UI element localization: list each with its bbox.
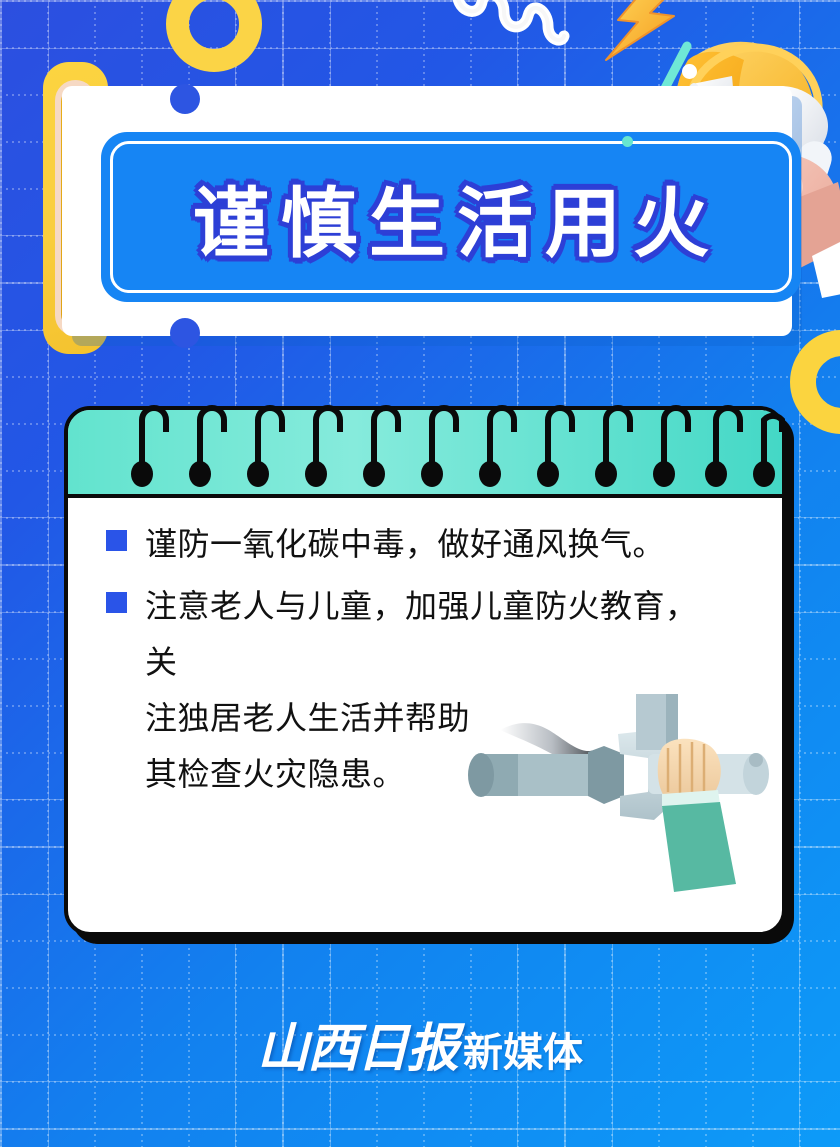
- dot-decoration-top: [170, 84, 200, 114]
- ring-right-icon: [790, 330, 840, 434]
- list-item-line: 注意老人与儿童，加强儿童防火教育，关: [145, 588, 698, 680]
- list-item-line: 注独居老人生活并帮助: [145, 700, 470, 736]
- list-item-label: 谨防一氧化碳中毒，做好通风换气。: [145, 516, 665, 572]
- logo-sub-text: 新媒体: [463, 1033, 583, 1076]
- logo-brand-text: 山西日报: [257, 1024, 457, 1076]
- ring-top-left-icon: [166, 0, 262, 72]
- bullet-square-icon: [106, 530, 127, 551]
- page-title: 谨慎生活用火: [101, 132, 801, 302]
- spiral-squiggle-icon: [452, 0, 592, 66]
- pipe-wrench-in-hand-icon: [448, 692, 784, 892]
- list-item-line: 其检查火灾隐患。: [145, 756, 405, 792]
- list-item: 谨防一氧化碳中毒，做好通风换气。: [98, 516, 752, 572]
- footer-logo: 山西日报 新媒体: [0, 1024, 840, 1076]
- bullet-square-icon: [106, 592, 127, 613]
- poster-root: 谨慎生活用火: [0, 0, 840, 1147]
- dot-decoration-bottom: [170, 318, 200, 348]
- dot-decoration-white: [682, 64, 697, 79]
